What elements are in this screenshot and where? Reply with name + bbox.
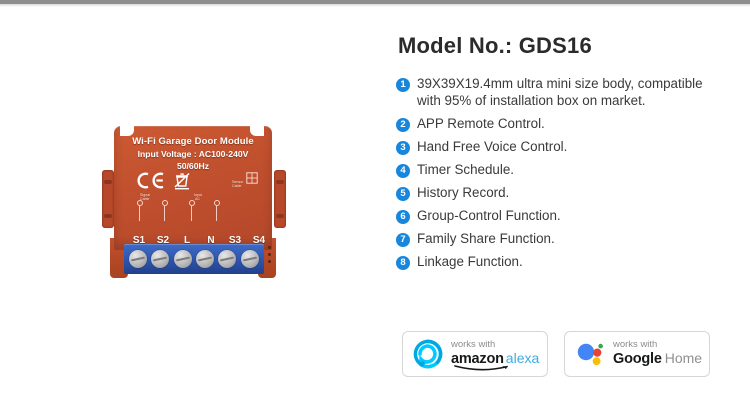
feature-text: History Record. <box>417 185 509 202</box>
google-works-with-label: works with <box>613 340 702 350</box>
terminal-screw <box>196 250 214 268</box>
feature-number-badge: 3 <box>396 141 410 155</box>
callout-label-signal-line2: Cable <box>140 197 149 201</box>
alexa-wordmark: alexa <box>506 350 539 366</box>
callout-label-sensor-line2: Cable <box>232 184 241 188</box>
device-label-frequency: 50/60Hz <box>114 161 272 171</box>
feature-item-4: 4 Timer Schedule. <box>396 162 718 179</box>
product-info-pane: Model No.: GDS16 1 39X39X19.4mm ultra mi… <box>396 0 750 400</box>
callout-dot-s2 <box>162 200 168 206</box>
alexa-badge-text: works with amazon alexa <box>451 340 539 368</box>
weee-crossed-bin-icon <box>172 171 192 191</box>
callout-dot-n <box>214 200 220 206</box>
callout-label-input-line2: AC <box>195 197 200 201</box>
feature-text: APP Remote Control. <box>417 116 545 133</box>
amazon-wordmark-wrap: amazon <box>451 351 504 368</box>
terminal-screw <box>174 250 192 268</box>
feature-item-7: 7 Family Share Function. <box>396 231 718 248</box>
feature-text: Family Share Function. <box>417 231 555 248</box>
feature-number-badge: 5 <box>396 187 410 201</box>
amazon-smile-arrow-icon <box>454 365 510 371</box>
callout-lead-l <box>191 205 192 221</box>
google-badge-text: works with GoogleHome <box>613 340 702 368</box>
feature-item-5: 5 History Record. <box>396 185 718 202</box>
feature-number-badge: 4 <box>396 164 410 178</box>
side-vent-holes <box>268 246 271 263</box>
feature-number-badge: 8 <box>396 256 410 270</box>
feature-text: Linkage Function. <box>417 254 523 271</box>
feature-item-2: 2 APP Remote Control. <box>396 116 718 133</box>
terminal-screw <box>151 250 169 268</box>
alexa-brand-line: amazon alexa <box>451 351 539 368</box>
feature-number-badge: 6 <box>396 210 410 224</box>
feature-item-1: 1 39X39X19.4mm ultra mini size body, com… <box>396 76 718 109</box>
screw-terminal-block <box>124 244 264 274</box>
body-notch-right <box>250 126 264 136</box>
google-brand-line: GoogleHome <box>613 351 702 368</box>
device-label-title: Wi-Fi Garage Door Module <box>114 136 272 147</box>
terminal-screw <box>241 250 259 268</box>
google-wordmark: Google <box>613 351 662 367</box>
terminal-screw <box>129 250 147 268</box>
amazon-alexa-ring-icon <box>413 339 443 369</box>
home-wordmark: Home <box>665 350 702 366</box>
device-body: Wi-Fi Garage Door Module Input Voltage :… <box>114 126 272 250</box>
feature-list: 1 39X39X19.4mm ultra mini size body, com… <box>396 76 718 277</box>
terminal-screw <box>218 250 236 268</box>
garage-door-module-device: Wi-Fi Garage Door Module Input Voltage :… <box>108 126 280 286</box>
ce-mark-icon <box>136 172 166 189</box>
google-assistant-dots-icon <box>575 339 605 369</box>
body-notch-left <box>120 126 134 136</box>
compatibility-badge-row: works with amazon alexa <box>402 331 710 377</box>
sensor-device-icon <box>246 172 258 184</box>
model-title: Model No.: GDS16 <box>398 33 592 59</box>
feature-text: 39X39X19.4mm ultra mini size body, compa… <box>417 76 718 109</box>
feature-text: Timer Schedule. <box>417 162 514 179</box>
feature-number-badge: 7 <box>396 233 410 247</box>
feature-item-6: 6 Group-Control Function. <box>396 208 718 225</box>
terminal-callouts: Signal Cable Input AC Sensor Cable S1 S2 <box>120 192 278 250</box>
callout-lead-s2 <box>164 205 165 221</box>
feature-item-3: 3 Hand Free Voice Control. <box>396 139 718 156</box>
feature-text: Hand Free Voice Control. <box>417 139 567 156</box>
alexa-works-with-label: works with <box>451 340 539 350</box>
callout-lead-n <box>216 205 217 221</box>
feature-number-badge: 2 <box>396 118 410 132</box>
device-label-voltage: Input Voltage : AC100-240V <box>114 149 272 159</box>
callout-lead-s1 <box>139 205 140 221</box>
feature-text: Group-Control Function. <box>417 208 561 225</box>
mounting-clip-left <box>102 170 114 228</box>
feature-number-badge: 1 <box>396 78 410 92</box>
works-with-google-home-badge: works with GoogleHome <box>564 331 710 377</box>
feature-item-8: 8 Linkage Function. <box>396 254 718 271</box>
works-with-alexa-badge: works with amazon alexa <box>402 331 548 377</box>
product-image-pane: Wi-Fi Garage Door Module Input Voltage :… <box>0 0 390 400</box>
